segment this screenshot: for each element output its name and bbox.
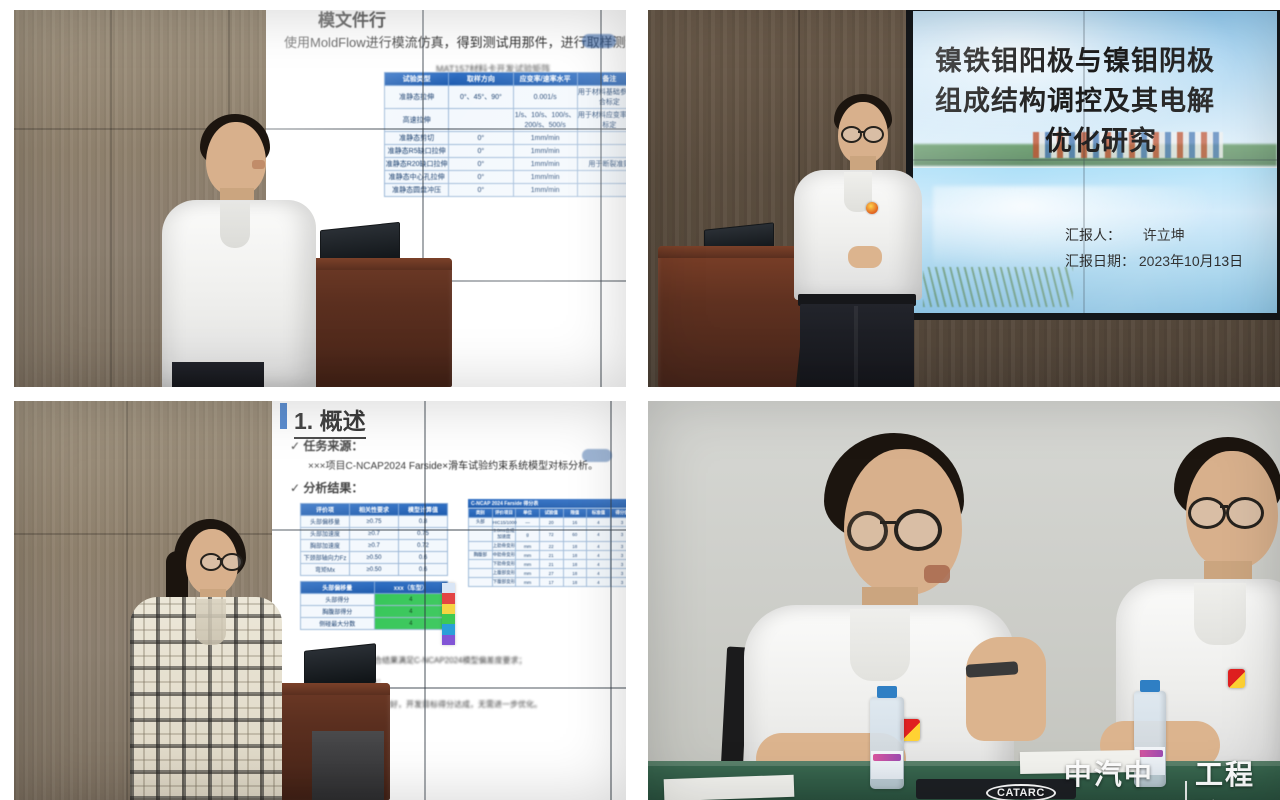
glasses-bridge bbox=[1220, 505, 1228, 508]
head bbox=[206, 122, 266, 196]
watermark-division: 工程院 bbox=[1195, 753, 1280, 800]
glasses-left-lens bbox=[841, 126, 862, 143]
watermark-separator-icon bbox=[1185, 781, 1187, 800]
jacket-collar bbox=[196, 599, 226, 645]
hands bbox=[848, 246, 882, 268]
glasses-left-lens bbox=[1188, 497, 1226, 529]
mouth bbox=[924, 565, 950, 583]
watermark-logo: CATARC 中汽中心 工程院 bbox=[986, 753, 1280, 800]
glasses-bridge bbox=[217, 558, 222, 560]
collage-photo-top-left: 模文件行 使用MoldFlow进行模流仿真，得到测试用那件，进行取样测试并开发M… bbox=[14, 10, 626, 387]
glasses-right-lens bbox=[894, 509, 942, 551]
mouth bbox=[252, 160, 265, 169]
catarc-logo-icon: CATARC bbox=[986, 784, 1056, 800]
document-paper bbox=[664, 775, 795, 800]
collage-photo-bottom-right: CATARC 中汽中心 工程院 bbox=[648, 401, 1280, 800]
shirt-collar bbox=[850, 609, 910, 681]
wall-seam-vertical bbox=[110, 10, 112, 387]
watermark-brand: 中汽中心 bbox=[1064, 753, 1177, 800]
trousers bbox=[172, 362, 264, 387]
video-wall-screen: 镍铁钼阳极与镍钼阴极 组成结构调控及其电解 优化研究 汇报人： 许立坤 汇报日期… bbox=[906, 10, 1280, 320]
glasses-right-lens bbox=[863, 126, 884, 143]
shirt-collar bbox=[220, 202, 250, 248]
trouser-crease bbox=[854, 306, 858, 387]
water-bottle bbox=[870, 697, 904, 789]
glasses-bridge bbox=[880, 521, 896, 524]
podium-side bbox=[312, 731, 384, 800]
slide-corner-logo-icon bbox=[582, 449, 612, 462]
shirt-collar bbox=[1194, 583, 1246, 645]
collage-photo-bottom-left: 1. 概述 ✓ 任务来源： ×××项目C-NCAP2024 Farside×滑车… bbox=[14, 401, 626, 800]
lapel-badge-icon bbox=[866, 202, 878, 214]
glasses-bridge bbox=[858, 131, 864, 133]
wall-seam-vertical bbox=[126, 401, 128, 800]
raised-hand bbox=[966, 637, 1046, 741]
glasses-right-lens bbox=[221, 553, 243, 571]
collage-photo-top-right: 镍铁钼阳极与镍钼阴极 组成结构调控及其电解 优化研究 汇报人： 许立坤 汇报日期… bbox=[648, 10, 1280, 387]
glasses-left-lens bbox=[200, 553, 222, 571]
bottle-cap bbox=[877, 686, 897, 698]
photo-collage: 模文件行 使用MoldFlow进行模流仿真，得到测试用那件，进行取样测试并开发M… bbox=[0, 0, 1280, 800]
slide-corner-logo-icon bbox=[582, 34, 616, 48]
party-badge-icon bbox=[1228, 669, 1245, 688]
glasses-left-lens bbox=[847, 511, 888, 551]
podium bbox=[658, 246, 808, 387]
bottle-cap bbox=[1140, 680, 1160, 692]
glasses-right-lens bbox=[1226, 497, 1264, 529]
bottle-label bbox=[871, 751, 903, 779]
video-wall-bezel-grid bbox=[913, 11, 1277, 313]
